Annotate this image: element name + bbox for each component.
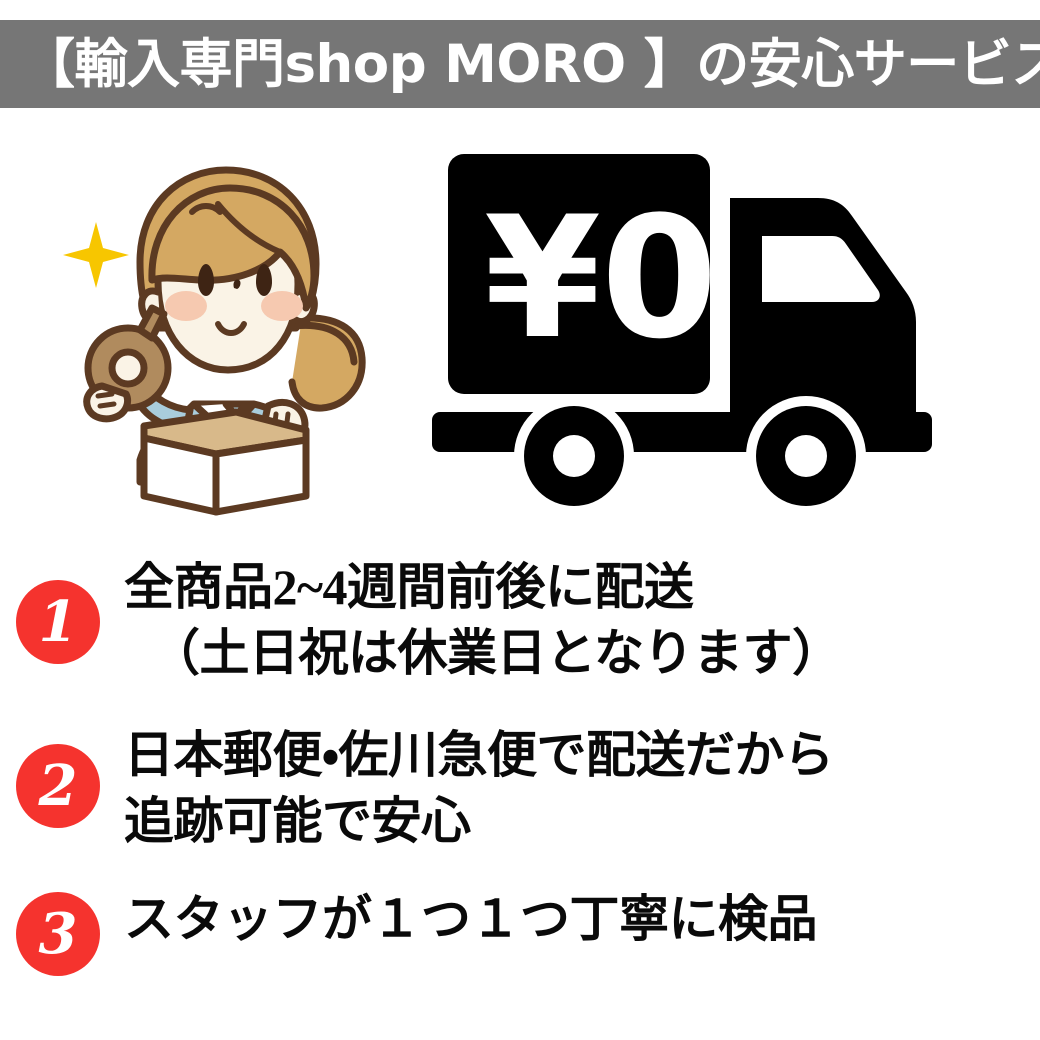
illustration-band: ¥0: [0, 118, 1040, 538]
feature-line-primary: 日本郵便・佐川急便で配送だから: [124, 722, 834, 788]
feature-list: 1 全商品2~4週間前後に配送 （土日祝は休業日となります） 2 日本郵便・佐川…: [0, 548, 1040, 976]
feature-text-2: 日本郵便・佐川急便で配送だから 追跡可能で安心: [124, 722, 834, 854]
list-item: 1 全商品2~4週間前後に配送 （土日祝は休業日となります）: [0, 554, 1040, 686]
feature-line-primary: 全商品2~4週間前後に配送: [124, 554, 842, 620]
feature-text-3: スタッフが１つ１つ丁寧に検品: [124, 886, 817, 952]
feature-badge-1: 1: [16, 580, 100, 664]
page-title: 【輸入専門shop MORO 】の安心サービス: [22, 38, 1040, 91]
header-banner: 【輸入専門shop MORO 】の安心サービス: [0, 20, 1040, 108]
feature-line-primary: スタッフが１つ１つ丁寧に検品: [124, 886, 817, 952]
truck-illustration: ¥0: [420, 140, 1000, 510]
free-shipping-label: ¥0: [484, 180, 718, 376]
feature-line-secondary: （土日祝は休業日となります）: [124, 620, 842, 686]
sparkle-icon: [63, 222, 129, 288]
feature-text-1: 全商品2~4週間前後に配送 （土日祝は休業日となります）: [124, 554, 842, 686]
feature-badge-3: 3: [16, 892, 100, 976]
feature-line-secondary: 追跡可能で安心: [124, 788, 834, 854]
feature-badge-2: 2: [16, 744, 100, 828]
truck-cab: [730, 198, 916, 414]
list-item: 2 日本郵便・佐川急便で配送だから 追跡可能で安心: [0, 722, 1040, 854]
staff-illustration: [40, 130, 430, 520]
list-item: 3 スタッフが１つ１つ丁寧に検品: [0, 886, 1040, 976]
